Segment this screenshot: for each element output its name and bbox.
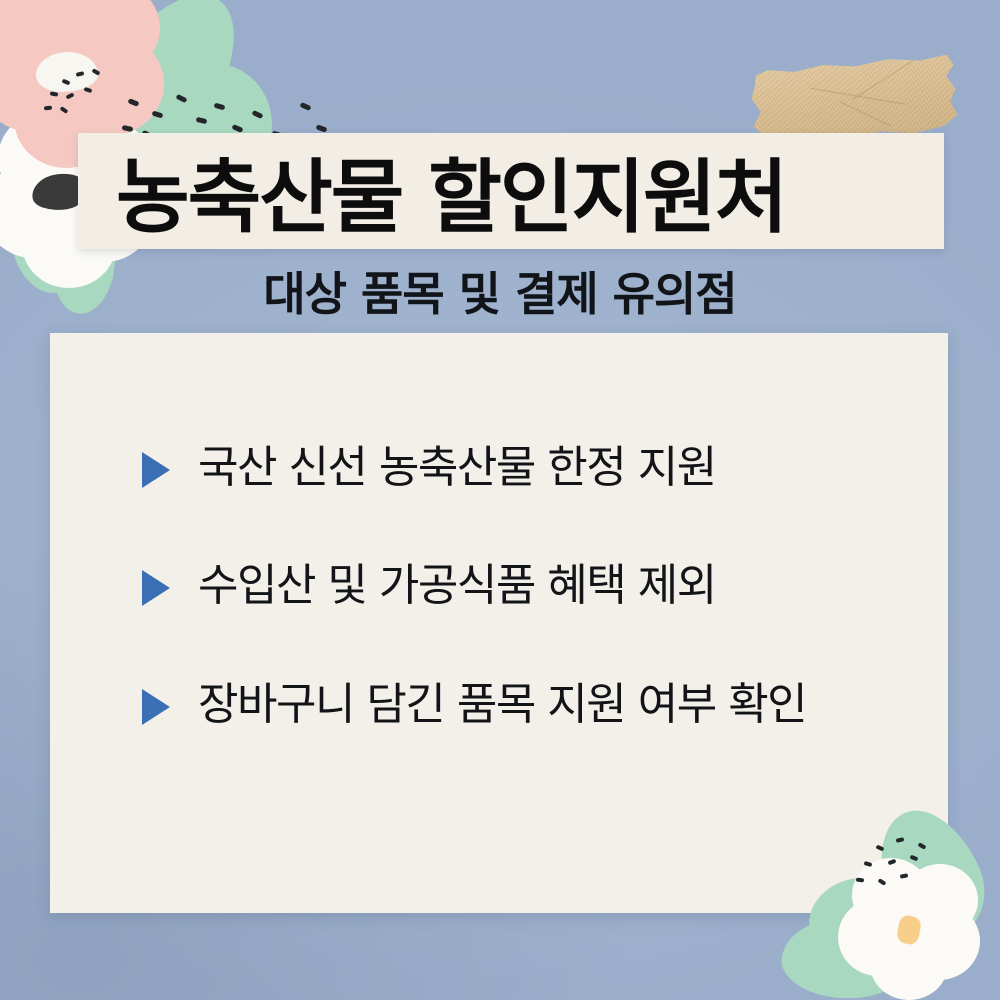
seed-dash-icon <box>196 117 208 125</box>
stamen-dot-icon <box>50 91 59 96</box>
stamen-dot-icon <box>44 106 52 111</box>
stamen-dot-icon <box>92 68 101 75</box>
triangle-right-icon <box>142 689 170 725</box>
flower-center-icon <box>896 914 923 945</box>
list-item-label: 국산 신선 농축산물 한정 지원 <box>198 440 716 496</box>
list-item: 수입산 및 가공식품 혜택 제외 <box>142 558 902 614</box>
stamen-dot-icon <box>66 92 75 99</box>
stamen-dot-icon <box>60 106 69 114</box>
seed-dash-icon <box>127 98 139 107</box>
stamen-dot-icon <box>84 87 93 93</box>
leaf-icon <box>778 914 905 1000</box>
seed-dash-icon <box>251 110 263 119</box>
list-item-label: 장바구니 담긴 품목 지원 여부 확인 <box>198 677 806 733</box>
page-subtitle: 대상 품목 및 결제 유의점 <box>0 258 1000 324</box>
list-item-label: 수입산 및 가공식품 혜택 제외 <box>198 558 716 614</box>
seed-dash-icon <box>214 103 226 111</box>
seed-dash-icon <box>151 110 163 118</box>
bullet-list: 국산 신선 농축산물 한정 지원 수입산 및 가공식품 혜택 제외 장바구니 담… <box>142 440 902 733</box>
seed-dash-icon <box>299 102 311 111</box>
page-title: 농축산물 할인지원처 <box>116 128 936 254</box>
list-item: 국산 신선 농축산물 한정 지원 <box>142 440 902 496</box>
flower-center-icon <box>36 52 98 92</box>
poster-canvas: 농축산물 할인지원처 대상 품목 및 결제 유의점 국산 신선 농축산물 한정 … <box>0 0 1000 1000</box>
stamen-dot-icon <box>62 79 71 86</box>
triangle-right-icon <box>142 452 170 488</box>
stamen-dot-icon <box>76 71 85 77</box>
triangle-right-icon <box>142 570 170 606</box>
list-item: 장바구니 담긴 품목 지원 여부 확인 <box>142 677 902 733</box>
seed-dash-icon <box>175 94 187 103</box>
